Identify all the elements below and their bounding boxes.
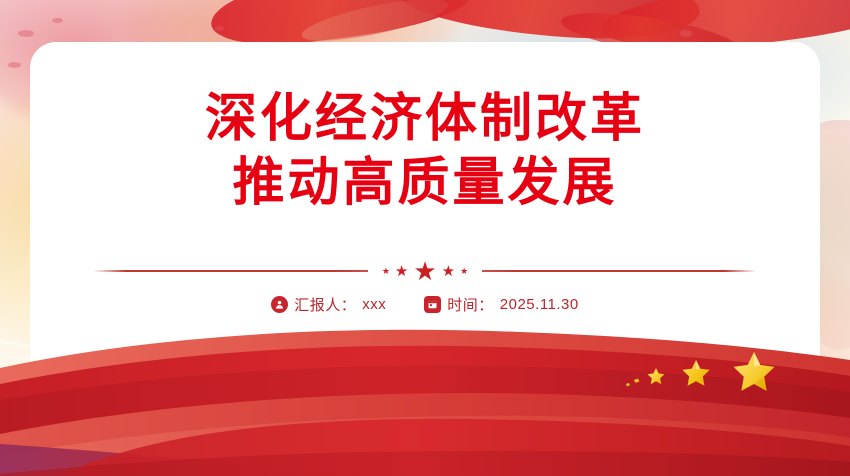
- paint-speck: [215, 26, 224, 31]
- star-divider: ★ ★ ★ ★ ★: [0, 258, 850, 284]
- star-icon: ★: [442, 264, 455, 279]
- divider-line-left: [93, 270, 368, 272]
- presenter-value: xxx: [362, 296, 386, 313]
- paint-speck: [680, 30, 692, 37]
- divider-star-cluster: ★ ★ ★ ★ ★: [378, 258, 472, 284]
- date-value: 2025.11.30: [500, 296, 579, 313]
- title-line-1: 深化经济体制改革: [0, 88, 850, 152]
- title-line-2: 推动高质量发展: [0, 152, 850, 216]
- star-icon: ★: [460, 267, 468, 276]
- star-icon: ★: [395, 264, 408, 279]
- presenter-info: 汇报人： xxx: [271, 294, 386, 315]
- paint-speck: [8, 62, 21, 68]
- calendar-icon: [424, 296, 441, 313]
- page-title: 深化经济体制改革 推动高质量发展: [0, 88, 850, 216]
- star-icon: ★: [382, 267, 390, 276]
- presentation-slide: 深化经济体制改革 推动高质量发展 ★ ★ ★ ★ ★ 汇报人： xxx: [0, 0, 850, 476]
- presenter-label: 汇报人：: [294, 294, 356, 315]
- paint-speck: [18, 30, 34, 37]
- golden-stars-decoration: [620, 350, 820, 410]
- date-info: 时间： 2025.11.30: [424, 294, 578, 315]
- date-label: 时间：: [447, 294, 494, 315]
- paint-speck: [52, 18, 63, 23]
- user-icon: [271, 296, 288, 313]
- divider-line-right: [482, 270, 757, 272]
- slide-meta: 汇报人： xxx 时间： 2025.11.30: [0, 294, 850, 315]
- star-icon: ★: [413, 258, 436, 284]
